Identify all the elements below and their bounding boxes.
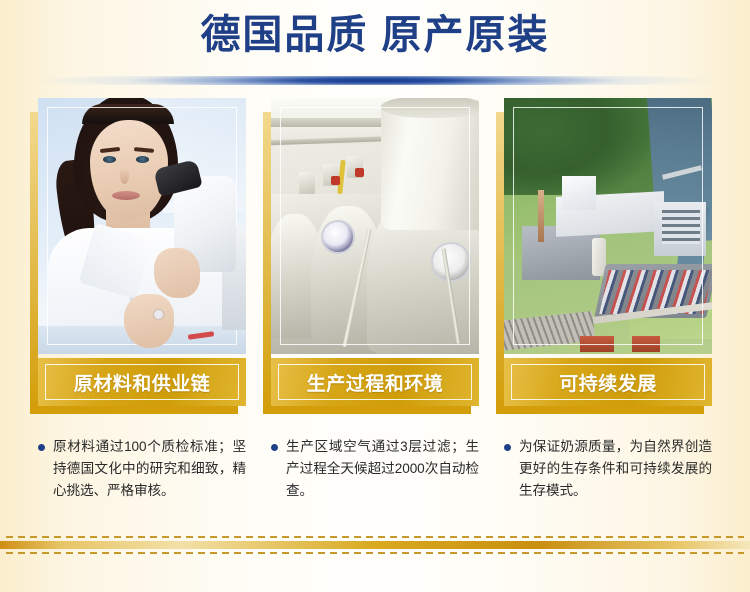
feature-card-production[interactable]: 生产过程和环境 (271, 98, 479, 406)
photo-inner-2 (271, 98, 479, 354)
large-vertical-tank (381, 102, 479, 230)
hand-upper (154, 248, 200, 298)
eye-left (103, 156, 116, 163)
bullet-dot-icon (271, 444, 278, 451)
control-box-a (299, 172, 315, 194)
bullet-text-raw-materials: 原材料通过100个质检标准；坚持德国文化中的研究和细致，精心挑选、严格审核。 (53, 436, 246, 502)
bullet-item-production: 生产区域空气通过3层过滤；生产过程全天候超过2000次自动检查。 (271, 436, 479, 502)
footer-decorative-rule (0, 534, 750, 558)
red-valve-b (355, 168, 364, 177)
header-divider-rule (0, 76, 750, 85)
bullet-dot-icon (38, 444, 45, 451)
photo-aerial-view-factory-with-river (504, 98, 712, 354)
bullet-text-production: 生产区域空气通过3层过滤；生产过程全天候超过2000次自动检查。 (286, 436, 479, 502)
chimney (538, 190, 544, 242)
photo-inner-3 (504, 98, 712, 354)
footer-gold-bar (0, 541, 750, 549)
red-roof-house-2 (632, 336, 660, 352)
footer-dashed-line-bottom (6, 552, 744, 554)
eye-right (136, 156, 149, 163)
large-tank-lid (381, 98, 479, 118)
office-building-windows (662, 210, 700, 244)
feature-card-sustainability[interactable]: 可持续发展 (504, 98, 712, 406)
pressure-gauge-2 (431, 242, 471, 282)
feature-card-row: 原材料和供业链 (0, 98, 750, 406)
red-valve-a (331, 176, 340, 185)
page-header: 德国品质 原产原装 (0, 0, 750, 92)
red-roof-house-1 (580, 336, 614, 352)
footer-dashed-line-top (6, 536, 744, 538)
finger-ring (154, 310, 163, 319)
photo-female-scientist-with-microscope (38, 98, 246, 354)
card-label-text-3: 可持续发展 (559, 369, 657, 396)
feature-card-raw-materials[interactable]: 原材料和供业链 (38, 98, 246, 406)
bullet-dot-icon (504, 444, 511, 451)
nose (120, 168, 129, 184)
card-label-text-2: 生产过程和环境 (307, 369, 444, 396)
page-title: 德国品质 原产原装 (0, 0, 750, 58)
tall-building (562, 176, 596, 210)
card-label-band-2: 生产过程和环境 (271, 358, 479, 406)
bullet-item-raw-materials: 原材料通过100个质检标准；坚持德国文化中的研究和细致，精心挑选、严格审核。 (38, 436, 246, 502)
bullet-item-sustainability: 为保证奶源质量，为自然界创造更好的生存条件和可持续发展的生存模式。 (504, 436, 712, 502)
photo-inner-1 (38, 98, 246, 354)
card-label-band-3: 可持续发展 (504, 358, 712, 406)
pressure-gauge-1 (321, 220, 355, 254)
card-label-band-1: 原材料和供业链 (38, 358, 246, 406)
bullet-text-sustainability: 为保证奶源质量，为自然界创造更好的生存条件和可持续发展的生存模式。 (519, 436, 712, 502)
bullet-row: 原材料通过100个质检标准；坚持德国文化中的研究和细致，精心挑选、严格审核。 生… (0, 436, 750, 502)
hand-lower (124, 294, 174, 348)
lips (112, 191, 140, 200)
card-label-text-1: 原材料和供业链 (74, 369, 211, 396)
photo-stainless-steel-factory-tanks (271, 98, 479, 354)
